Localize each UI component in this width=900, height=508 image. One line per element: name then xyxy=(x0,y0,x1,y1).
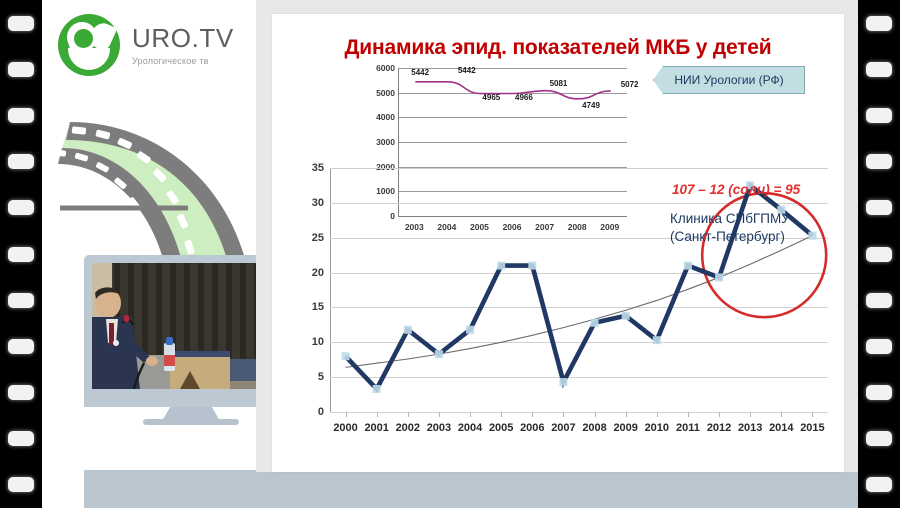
presentation-slide: Динамика эпид. показателей МКБ у детей 0… xyxy=(272,14,844,472)
film-strip-hole-right xyxy=(866,16,892,31)
main-chart-x-tick-label: 2015 xyxy=(797,422,828,434)
main-chart-x-tick-label: 2006 xyxy=(517,422,548,434)
film-strip-hole-left xyxy=(8,477,34,492)
film-strip-hole-right xyxy=(866,62,892,77)
logo-subtitle: Урологическое тв xyxy=(132,56,234,66)
main-chart-x-tick-label: 2013 xyxy=(735,422,766,434)
film-reel-graphic-icon xyxy=(42,104,256,274)
film-strip-hole-right xyxy=(866,477,892,492)
inset-data-label: 4966 xyxy=(515,93,533,102)
page-title: Динамика эпид. показателей МКБ у детей xyxy=(272,36,844,60)
main-chart-x-tick-label: 2008 xyxy=(579,422,610,434)
main-chart-data-marker xyxy=(591,319,599,327)
clinic-annotation: Клиника СПбГПМУ (Санкт-Петербург) xyxy=(670,210,850,246)
film-strip-hole-left xyxy=(8,247,34,262)
inset-data-label: 5081 xyxy=(550,79,568,88)
film-strip-hole-left xyxy=(8,154,34,169)
film-strip-hole-right xyxy=(866,200,892,215)
main-chart-x-tick-label: 2000 xyxy=(330,422,361,434)
inset-y-tick-label: 5000 xyxy=(376,88,395,98)
main-chart-x-tick-label: 2010 xyxy=(641,422,672,434)
main-chart-y-tick-label: 25 xyxy=(312,232,324,244)
main-chart: 05101520253035 2000200120022003200420052… xyxy=(290,160,840,450)
inset-data-label: 5442 xyxy=(458,66,476,75)
video-monitor[interactable] xyxy=(84,255,256,430)
film-strip-hole-left xyxy=(8,339,34,354)
main-chart-y-tick-label: 30 xyxy=(312,197,324,209)
film-strip-right xyxy=(858,0,900,508)
main-chart-data-marker xyxy=(342,352,350,360)
main-chart-x-tick-label: 2014 xyxy=(766,422,797,434)
film-strip-hole-right xyxy=(866,339,892,354)
film-strip-hole-left xyxy=(8,293,34,308)
main-chart-data-marker xyxy=(622,312,630,320)
urotv-circle-logo-icon xyxy=(58,14,120,76)
main-chart-data-marker xyxy=(528,262,536,270)
desk-band xyxy=(84,430,256,508)
film-strip-hole-left xyxy=(8,62,34,77)
branding-pane: URO.TV Урологическое тв xyxy=(42,0,256,508)
speaker-video[interactable] xyxy=(92,263,256,389)
inset-data-label: 5442 xyxy=(411,68,429,77)
main-chart-x-tick-label: 2009 xyxy=(610,422,641,434)
main-chart-data-marker xyxy=(559,378,567,386)
monitor-stand-foot xyxy=(143,419,239,425)
film-strip-hole-left xyxy=(8,431,34,446)
film-strip-hole-left xyxy=(8,16,34,31)
clinic-line-1: Клиника СПбГПМУ xyxy=(670,210,850,228)
main-chart-data-marker xyxy=(466,326,474,334)
film-strip-hole-right xyxy=(866,431,892,446)
clinic-line-2: (Санкт-Петербург) xyxy=(670,228,850,246)
monitor-chin xyxy=(84,389,256,407)
main-chart-x-tick-label: 2005 xyxy=(486,422,517,434)
film-strip-hole-right xyxy=(866,154,892,169)
screenshot-stage: URO.TV Урологическое тв xyxy=(0,0,900,508)
main-chart-y-tick-label: 35 xyxy=(312,162,324,174)
main-chart-data-marker xyxy=(715,273,723,281)
main-chart-x-axis-labels: 2000200120022003200420052006200720082009… xyxy=(330,422,828,434)
main-chart-x-tick-label: 2011 xyxy=(672,422,703,434)
main-chart-data-marker xyxy=(684,262,692,270)
main-chart-y-tick-label: 20 xyxy=(312,267,324,279)
institute-badge: НИИ Урологии (РФ) xyxy=(653,66,805,94)
film-strip-left xyxy=(0,0,42,508)
inset-y-tick-label: 3000 xyxy=(376,137,395,147)
main-chart-x-tick-label: 2012 xyxy=(704,422,735,434)
film-strip-hole-right xyxy=(866,108,892,123)
institute-badge-label: НИИ Урологии (РФ) xyxy=(674,73,783,87)
main-chart-x-tick-label: 2001 xyxy=(361,422,392,434)
slide-lower-band xyxy=(256,472,858,508)
inset-y-tick-label: 6000 xyxy=(376,63,395,73)
urotv-logo[interactable]: URO.TV Урологическое тв xyxy=(58,14,234,76)
film-strip-hole-left xyxy=(8,200,34,215)
inset-y-tick-label: 4000 xyxy=(376,112,395,122)
inset-data-label: 4965 xyxy=(482,93,500,102)
main-chart-data-marker xyxy=(435,350,443,358)
main-chart-x-tick-label: 2007 xyxy=(548,422,579,434)
film-strip-hole-left xyxy=(8,108,34,123)
inset-data-label: 5072 xyxy=(621,80,639,89)
main-chart-data-marker xyxy=(373,385,381,393)
main-chart-x-tick-label: 2003 xyxy=(423,422,454,434)
main-chart-y-tick-label: 15 xyxy=(312,301,324,313)
inset-data-label: 4749 xyxy=(582,101,600,110)
main-chart-y-tick-label: 0 xyxy=(318,406,324,418)
formula-annotation: 107 – 12 (соли) = 95 xyxy=(672,182,852,197)
main-chart-x-tick-label: 2004 xyxy=(455,422,486,434)
film-strip-hole-right xyxy=(866,247,892,262)
logo-title: URO.TV xyxy=(132,25,234,51)
main-chart-data-marker xyxy=(497,262,505,270)
main-chart-plot-area: 05101520253035 xyxy=(330,168,828,412)
film-strip-hole-right xyxy=(866,385,892,400)
main-chart-data-marker xyxy=(653,336,661,344)
main-chart-x-tick-label: 2002 xyxy=(392,422,423,434)
main-chart-data-marker xyxy=(404,326,412,334)
film-strip-hole-right xyxy=(866,293,892,308)
film-strip-hole-left xyxy=(8,385,34,400)
main-chart-y-tick-label: 5 xyxy=(318,371,324,383)
main-chart-y-tick-label: 10 xyxy=(312,336,324,348)
